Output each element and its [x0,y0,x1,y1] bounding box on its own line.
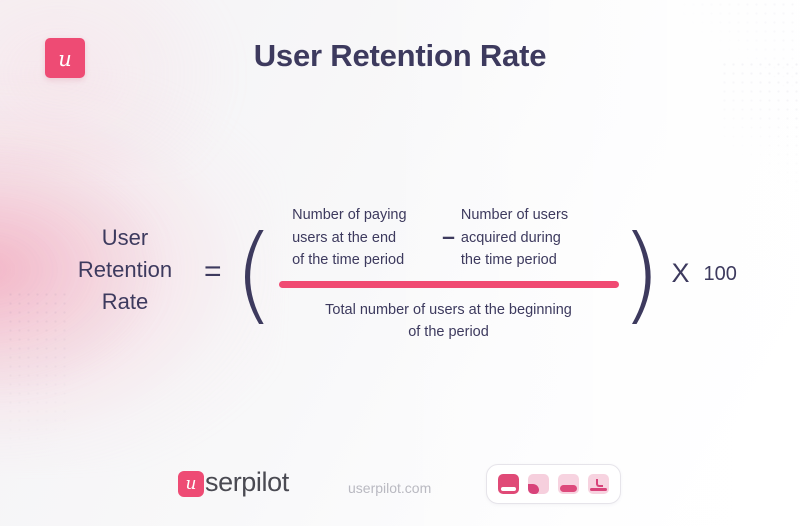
formula-expression: User Retention Rate = ( Number of paying… [60,180,750,360]
minus-sign: – [436,223,461,250]
numerator-left-line2: users at the end [292,227,436,250]
footer-logo: u serpilot [178,470,289,497]
badge-thick-bar-icon [558,474,579,494]
multiplication-sign: X [661,258,703,289]
numerator-term-right: Number of users acquired during the time… [461,204,605,272]
numerator-left-line3: of the time period [292,249,436,272]
fraction-bar [279,281,619,288]
numerator-right-line3: the time period [461,249,605,272]
numerator-term-left: Number of paying users at the end of the… [292,204,436,272]
numerator-right-line1: Number of users [461,204,605,227]
dot-pattern-left [6,290,66,490]
badge-return-arrow-icon [588,474,609,494]
formula-left-label-line2: Retention [60,254,190,286]
footer-logo-letter: u [186,476,197,493]
numerator-left-line1: Number of paying [292,204,436,227]
multiplier-value: 100 [703,263,736,286]
formula-left-label-line3: Rate [60,286,190,318]
badge-filled-bar-icon [498,474,519,494]
formula-left-label-line1: User [60,222,190,254]
fraction-numerator: Number of paying users at the end of the… [279,204,619,281]
fraction: Number of paying users at the end of the… [279,204,619,344]
fraction-denominator: Total number of users at the beginning o… [279,288,619,344]
numerator-right-line2: acquired during [461,227,605,250]
infographic-canvas: u User Retention Rate User Retention Rat… [0,0,800,526]
footer-logo-mark: u [178,471,204,497]
footer-logo-wordmark: serpilot [205,469,289,496]
equals-sign: = [190,255,234,289]
page-title: User Retention Rate [0,38,800,74]
denominator-line2: of the period [279,321,619,344]
formula-left-label: User Retention Rate [60,222,190,318]
footer-url: userpilot.com [348,480,431,496]
badge-corner-fold-icon [528,474,549,494]
badge-group [486,464,621,504]
denominator-line1: Total number of users at the beginning [279,299,619,322]
